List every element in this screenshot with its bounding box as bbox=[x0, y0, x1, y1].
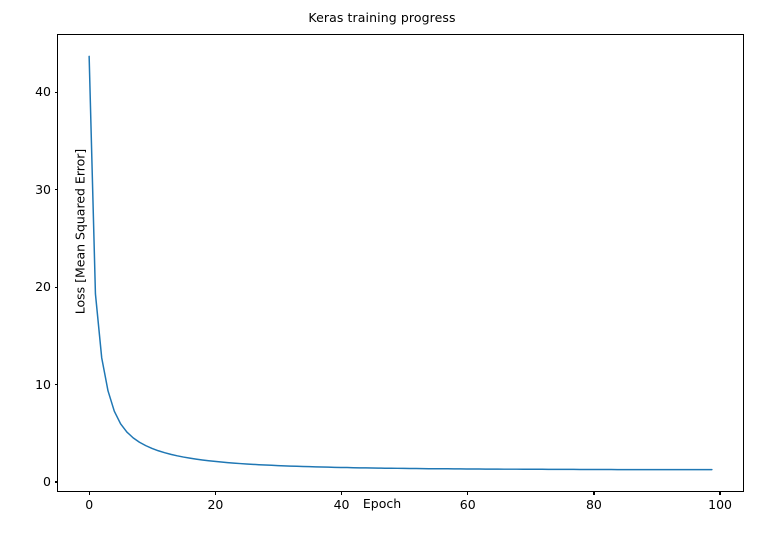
x-tick-mark bbox=[89, 491, 90, 495]
x-tick-mark bbox=[467, 491, 468, 495]
y-tick-label: 30 bbox=[35, 182, 51, 197]
y-tick-mark bbox=[55, 384, 59, 385]
chart-title: Keras training progress bbox=[0, 10, 764, 25]
y-tick-mark bbox=[55, 287, 59, 288]
y-tick-label: 20 bbox=[35, 279, 51, 294]
loss-curve bbox=[58, 35, 743, 491]
y-tick-mark bbox=[55, 189, 59, 190]
x-tick-mark bbox=[719, 491, 720, 495]
y-tick-mark bbox=[55, 92, 59, 93]
y-axis-label: Loss [Mean Squared Error] bbox=[73, 82, 88, 382]
y-tick-label: 0 bbox=[43, 474, 51, 489]
y-tick-label: 10 bbox=[35, 377, 51, 392]
x-axis-label: Epoch bbox=[0, 496, 764, 511]
x-tick-mark bbox=[341, 491, 342, 495]
y-tick-label: 40 bbox=[35, 84, 51, 99]
x-tick-mark bbox=[215, 491, 216, 495]
plot-area: Loss [Mean Squared Error] 01020304002040… bbox=[57, 34, 744, 492]
y-tick-mark bbox=[55, 481, 59, 482]
matplotlib-figure: Keras training progress Loss [Mean Squar… bbox=[0, 0, 764, 547]
x-tick-mark bbox=[593, 491, 594, 495]
